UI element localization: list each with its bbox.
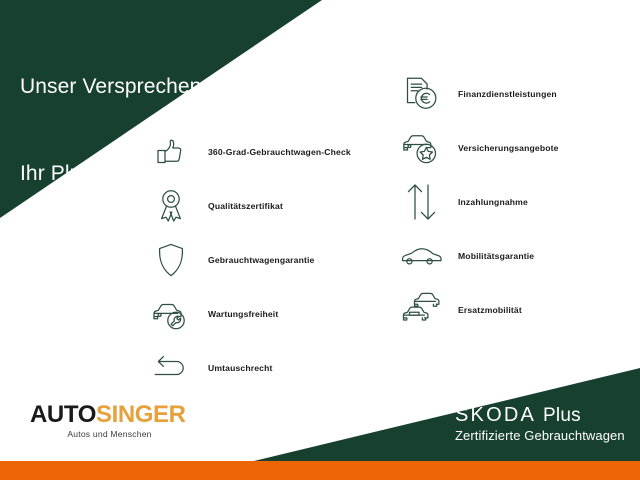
skoda-wordmark: ŠKODA xyxy=(455,404,536,426)
brand-lockup-subtitle: Zertifizierte Gebrauchtwagen xyxy=(455,428,625,443)
document-euro-icon xyxy=(398,71,444,117)
dealer-name-part-1: AUTO xyxy=(30,401,96,428)
feature-label: 360-Grad-Gebrauchtwagen-Check xyxy=(208,147,351,157)
dealer-tagline: Autos und Menschen xyxy=(37,429,182,439)
orange-footer-bar xyxy=(0,461,640,480)
skoda-plus-label: Plus xyxy=(543,405,581,427)
feature-item: Qualitätszertifikat xyxy=(148,180,351,232)
thumbs-up-icon xyxy=(148,129,194,175)
feature-label: Qualitätszertifikat xyxy=(208,201,283,211)
return-arrow-icon xyxy=(148,345,194,391)
brand-lockup-line-1: ŠKODA Plus xyxy=(455,404,625,427)
feature-label: Gebrauchtwagengarantie xyxy=(208,255,314,265)
dealer-name-part-2: SINGER xyxy=(96,401,186,428)
feature-label: Inzahlungnahme xyxy=(458,197,528,207)
feature-label: Ersatzmobilität xyxy=(458,305,522,315)
feature-item: Ersatzmobilität xyxy=(398,284,559,336)
feature-label: Mobilitätsgarantie xyxy=(458,251,534,261)
headline-line-1: Unser Versprechen. xyxy=(20,72,207,101)
feature-label: Umtauschrecht xyxy=(208,363,273,373)
feature-label: Finanzdienstleistungen xyxy=(458,89,557,99)
feature-item: Inzahlungnahme xyxy=(398,176,559,228)
up-down-arrows-icon xyxy=(398,179,444,225)
two-cars-icon xyxy=(398,287,444,333)
car-wrench-icon xyxy=(148,291,194,337)
brand-lockup: ŠKODA Plus Zertifizierte Gebrauchtwagen xyxy=(455,404,625,443)
award-rosette-icon xyxy=(148,183,194,229)
feature-label: Wartungsfreiheit xyxy=(208,309,278,319)
car-side-icon xyxy=(398,233,444,279)
feature-item: Versicherungsangebote xyxy=(398,122,559,174)
shield-icon xyxy=(148,237,194,283)
dealer-logo: AUTOSINGER Autos und Menschen xyxy=(30,402,186,439)
feature-item: Wartungsfreiheit xyxy=(148,288,351,340)
feature-item: Mobilitätsgarantie xyxy=(398,230,559,282)
feature-list-left: 360-Grad-Gebrauchtwagen-Check Qualitätsz… xyxy=(148,126,351,394)
dealer-name: AUTOSINGER xyxy=(30,402,186,428)
feature-item: 360-Grad-Gebrauchtwagen-Check xyxy=(148,126,351,178)
car-star-icon xyxy=(398,125,444,171)
feature-label: Versicherungsangebote xyxy=(458,143,559,153)
feature-list-right: Finanzdienstleistungen Versicherungsange… xyxy=(398,68,559,336)
feature-item: Umtauschrecht xyxy=(148,342,351,394)
feature-item: Finanzdienstleistungen xyxy=(398,68,559,120)
feature-item: Gebrauchtwagengarantie xyxy=(148,234,351,286)
promo-banner: Unser Versprechen. Ihr Plus. 360-Grad-Ge… xyxy=(0,0,640,480)
